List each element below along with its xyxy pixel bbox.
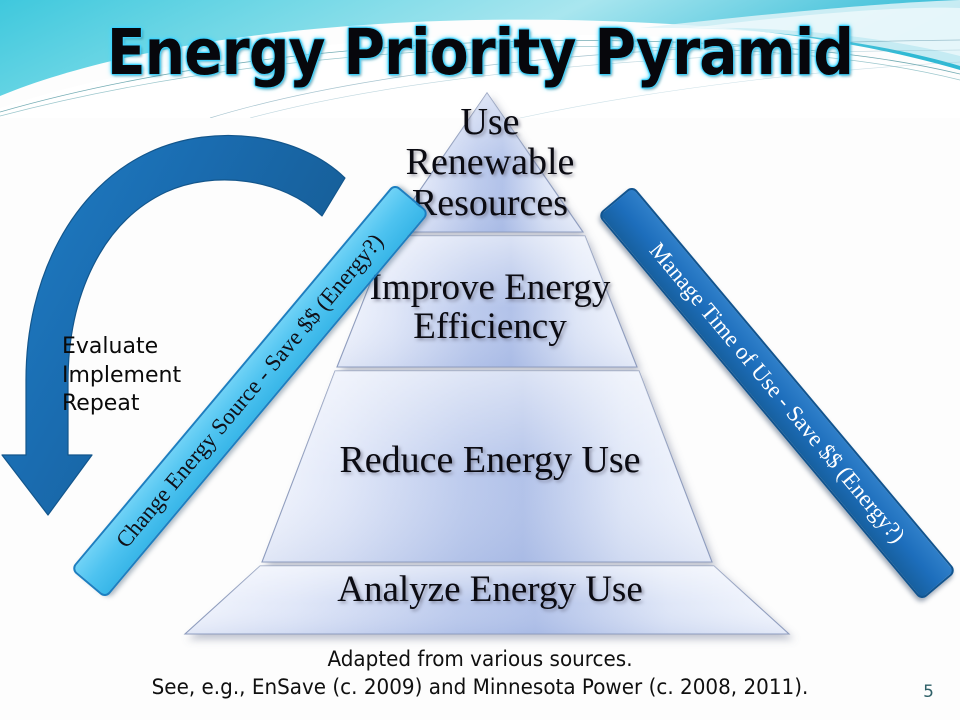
slide-canvas: Energy Priority Pyramid	[0, 0, 960, 720]
cycle-step-implement: Implement	[62, 362, 181, 391]
caption-line-2: See, e.g., EnSave (c. 2009) and Minnesot…	[24, 673, 936, 701]
cycle-step-evaluate: Evaluate	[62, 333, 181, 362]
cycle-step-repeat: Repeat	[62, 390, 181, 419]
page-number: 5	[923, 682, 934, 702]
cycle-steps-text: Evaluate Implement Repeat	[62, 333, 181, 419]
source-caption: Adapted from various sources. See, e.g.,…	[24, 645, 936, 702]
page-title: Energy Priority Pyramid	[48, 16, 912, 89]
caption-line-1: Adapted from various sources.	[24, 645, 936, 673]
pyramid-tier-4	[185, 566, 789, 634]
